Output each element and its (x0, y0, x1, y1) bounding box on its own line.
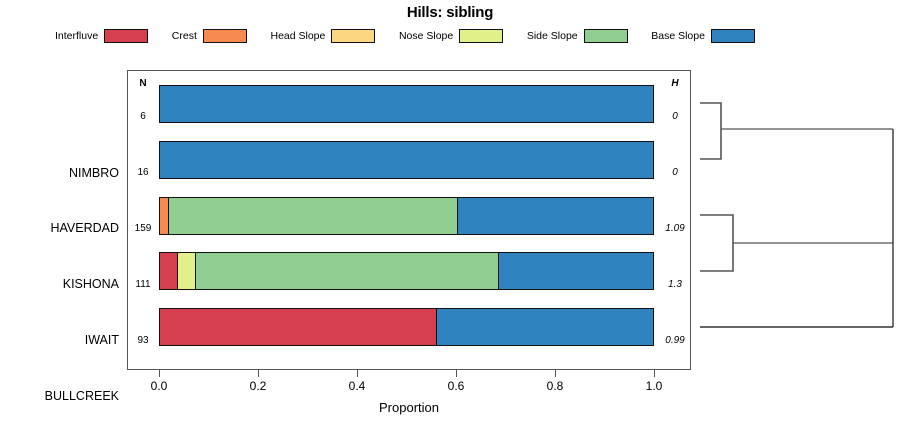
bar-segment-side-slope[interactable] (196, 253, 499, 289)
y-axis-label-iwait: IWAIT (0, 333, 123, 347)
legend-swatch-icon (459, 29, 503, 43)
dendrogram-cluster-nimbro-haverdad (700, 103, 893, 159)
x-tick-mark (357, 370, 358, 377)
bar-segment-base-slope[interactable] (499, 253, 653, 289)
n-value-haverdad: 16 (128, 167, 158, 178)
x-tick-mark (258, 370, 259, 377)
page-title: Hills: sibling (0, 4, 900, 21)
legend-item-head-slope[interactable]: Head Slope (270, 29, 375, 43)
x-tick-label: 0.2 (238, 379, 278, 393)
y-axis-label-nimbro: NIMBRO (0, 166, 123, 180)
x-tick-label: 0.4 (337, 379, 377, 393)
n-value-bullcreek: 93 (128, 335, 158, 346)
h-column: H 0 0 1.09 1.3 0.99 (658, 70, 692, 370)
x-tick-mark (654, 370, 655, 377)
x-tick-label: 0.6 (436, 379, 476, 393)
bar-row-haverdad[interactable] (159, 141, 654, 179)
y-axis-label-haverdad: HAVERDAD (0, 221, 123, 235)
bar-row-iwait[interactable] (159, 252, 654, 290)
h-value-kishona: 1.09 (658, 223, 692, 234)
y-axis-label-bullcreek: BULLCREEK (0, 389, 123, 403)
legend-swatch-icon (104, 29, 148, 43)
legend-swatch-icon (203, 29, 247, 43)
legend-item-base-slope[interactable]: Base Slope (651, 29, 755, 43)
h-value-iwait: 1.3 (658, 279, 692, 290)
y-axis-labels: NIMBRO HAVERDAD KISHONA IWAIT BULLCREEK (0, 70, 123, 370)
legend-label: Base Slope (651, 31, 705, 42)
bar-segment-base-slope[interactable] (160, 86, 653, 122)
legend-swatch-icon (711, 29, 755, 43)
n-value-kishona: 159 (128, 223, 158, 234)
legend-label: Head Slope (270, 31, 325, 42)
bar-row-kishona[interactable] (159, 197, 654, 235)
x-tick-mark (555, 370, 556, 377)
legend-label: Side Slope (527, 31, 578, 42)
legend-item-crest[interactable]: Crest (172, 29, 247, 43)
bar-row-nimbro[interactable] (159, 85, 654, 123)
n-value-nimbro: 6 (128, 111, 158, 122)
legend-swatch-icon (331, 29, 375, 43)
x-axis-title: Proportion (127, 400, 691, 415)
dendrogram-cluster-kishona-iwait (700, 215, 893, 271)
n-column-header: N (128, 78, 158, 89)
legend-item-nose-slope[interactable]: Nose Slope (399, 29, 503, 43)
x-tick-label: 0.8 (535, 379, 575, 393)
bar-segment-base-slope[interactable] (437, 309, 653, 345)
legend-label: Nose Slope (399, 31, 453, 42)
bar-row-bullcreek[interactable] (159, 308, 654, 346)
h-value-haverdad: 0 (658, 167, 692, 178)
x-tick-mark (456, 370, 457, 377)
bar-segment-crest[interactable] (160, 198, 169, 234)
x-axis: 0.00.20.40.60.81.0 (127, 370, 691, 400)
h-value-nimbro: 0 (658, 111, 692, 122)
legend-swatch-icon (584, 29, 628, 43)
bar-segment-side-slope[interactable] (169, 198, 457, 234)
x-tick-label: 1.0 (634, 379, 674, 393)
bar-segment-base-slope[interactable] (160, 142, 653, 178)
bar-segment-nose-slope[interactable] (178, 253, 196, 289)
x-tick-label: 0.0 (139, 379, 179, 393)
bar-segment-interfluve[interactable] (160, 309, 437, 345)
dendrogram (694, 70, 900, 370)
x-tick-mark (159, 370, 160, 377)
y-axis-label-kishona: KISHONA (0, 277, 123, 291)
legend-label: Crest (172, 31, 197, 42)
legend-item-side-slope[interactable]: Side Slope (527, 29, 628, 43)
h-value-bullcreek: 0.99 (658, 335, 692, 346)
dendrogram-svg (694, 70, 900, 370)
bar-segment-interfluve[interactable] (160, 253, 178, 289)
bar-segment-base-slope[interactable] (458, 198, 653, 234)
n-value-iwait: 111 (128, 279, 158, 290)
legend-item-interfluve[interactable]: Interfluve (55, 29, 148, 43)
h-column-header: H (658, 78, 692, 89)
legend: Interfluve Crest Head Slope Nose Slope S… (55, 27, 755, 45)
n-column: N 6 16 159 111 93 (128, 70, 158, 370)
legend-label: Interfluve (55, 31, 98, 42)
